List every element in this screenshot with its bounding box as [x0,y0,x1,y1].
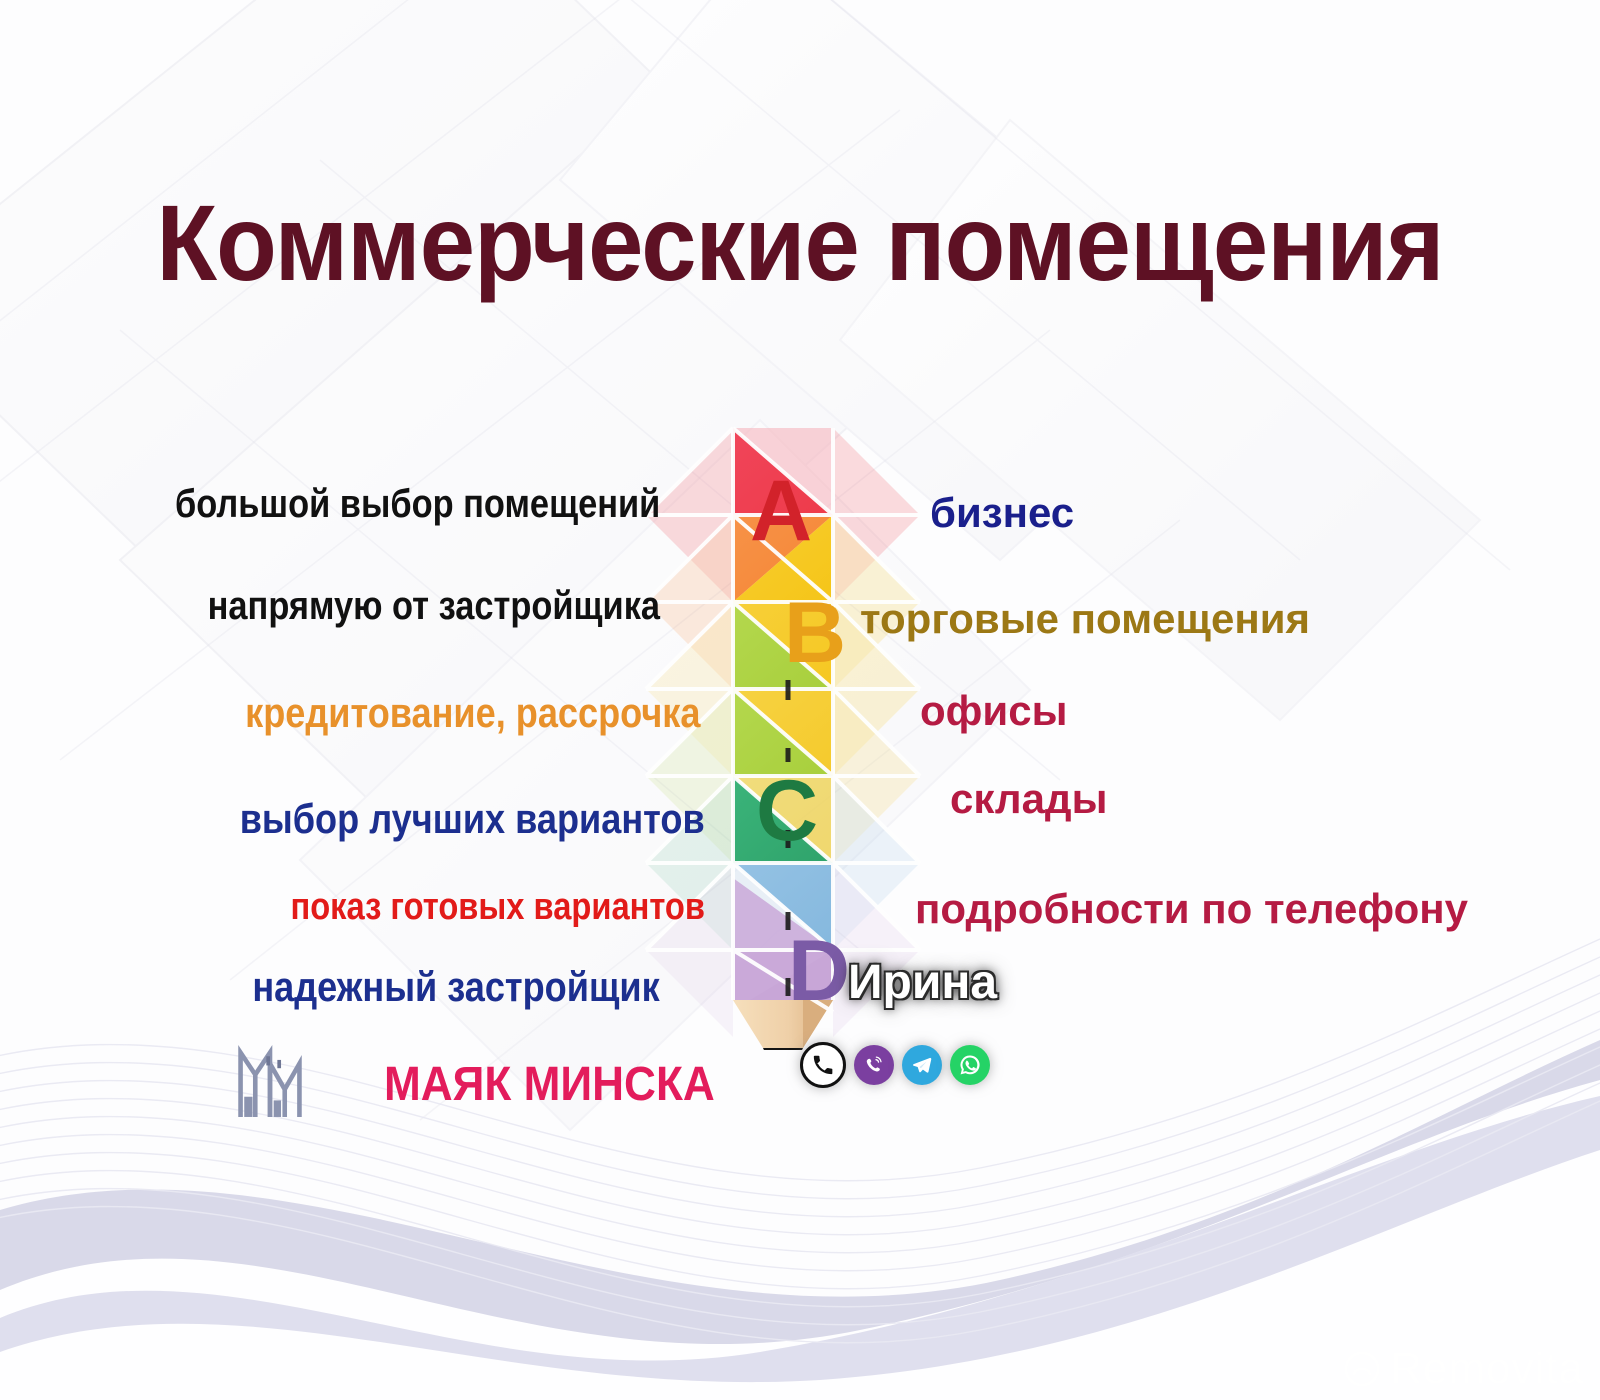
right-feature-2: торговые помещения [860,598,1310,640]
pencil-letter-c: C [756,763,818,859]
right-feature-4: склады [950,778,1107,820]
left-feature-2-label: напрямую от застройщика [208,584,660,628]
right-feature-5-label: подробности по телефону [915,885,1468,932]
brand-name: МАЯК МИНСКА [384,1057,715,1112]
watermark-icon [1342,1349,1382,1389]
pencil-letter-b: B [784,585,846,681]
page-title: Коммерческие помещения [64,186,1536,299]
left-feature-5: показ готовых вариантов [290,888,705,926]
brand-logo [224,1036,316,1133]
right-feature-3-label: офисы [920,687,1067,734]
watermark-text: Removita [1390,1344,1584,1394]
left-feature-1: большой выбор помещений [175,484,660,524]
right-feature-5: подробности по телефону [915,888,1468,930]
poster-canvas: Коммерческие помещения [0,0,1600,1400]
whatsapp-icon[interactable] [950,1045,990,1085]
watermark: Removita [1342,1344,1584,1394]
contact-icons[interactable] [800,1042,990,1088]
right-feature-1: бизнес [930,492,1074,534]
left-feature-3-label: кредитование, рассрочка [245,689,700,736]
left-feature-5-label: показ готовых вариантов [290,886,705,928]
left-feature-6: надежный застройщик [253,966,660,1008]
left-feature-2: напрямую от застройщика [208,586,660,626]
left-feature-4: выбор лучших вариантов [240,798,705,840]
right-feature-1-label: бизнес [930,489,1074,536]
right-feature-3: офисы [920,690,1067,732]
pencil-letter-d: D [788,923,850,1019]
viber-icon[interactable] [854,1045,894,1085]
left-feature-6-label: надежный застройщик [253,963,660,1010]
right-feature-4-label: склады [950,775,1107,822]
pencil-letter-a: A [750,463,812,559]
brand-row: МАЯК МИНСКА [224,1036,744,1133]
phone-icon[interactable] [800,1042,846,1088]
left-feature-1-label: большой выбор помещений [175,482,660,526]
left-feature-4-label: выбор лучших вариантов [240,795,705,842]
right-feature-2-label: торговые помещения [860,595,1310,642]
left-feature-3: кредитование, рассрочка [245,692,700,734]
agent-name: Ирина [848,955,997,1010]
telegram-icon[interactable] [902,1045,942,1085]
